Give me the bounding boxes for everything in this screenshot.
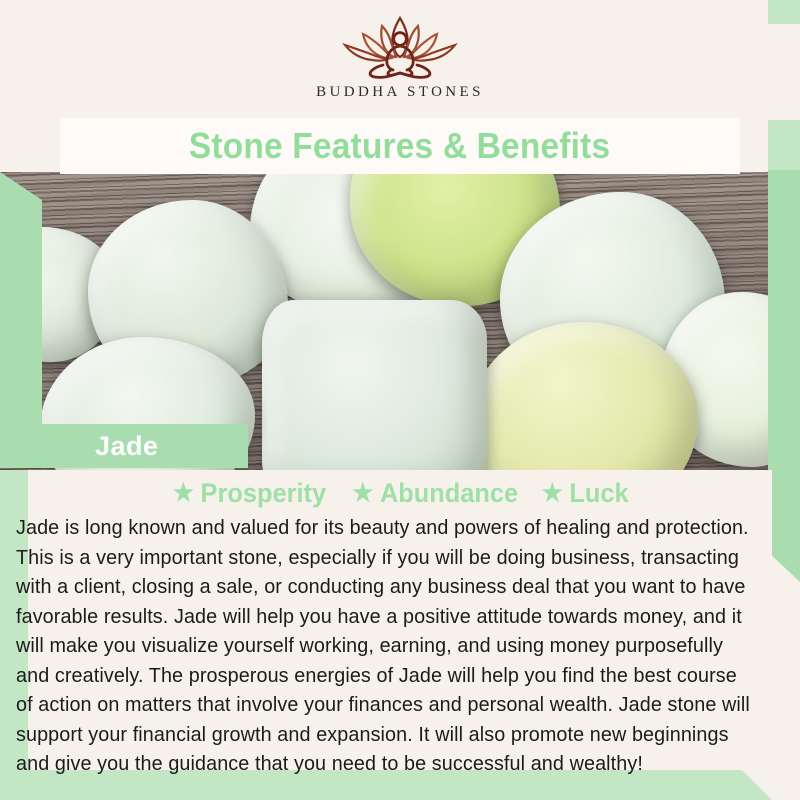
stone-shape (262, 300, 487, 470)
star-icon: ★ (542, 481, 563, 506)
frame-left-photo-band (0, 172, 42, 434)
title-banner: Stone Features & Benefits (60, 118, 740, 174)
brand-name: BUDDHA STONES (316, 84, 484, 101)
description-text: Jade is long known and valued for its be… (16, 513, 757, 779)
star-icon: ★ (352, 481, 373, 506)
content-panel: ★ Prosperity ★ Abundance ★ Luck Jade is … (28, 470, 772, 770)
lotus-meditation-icon (325, 12, 475, 80)
frame-right-mid-band (768, 170, 800, 582)
benefit-label: Luck (570, 478, 629, 509)
benefit-label: Prosperity (201, 478, 327, 509)
brand-logo: BUDDHA STONES (316, 12, 484, 101)
stone-name-label: Jade (95, 431, 159, 462)
benefit-item-luck: ★ Luck (542, 478, 629, 509)
benefit-item-prosperity: ★ Prosperity (173, 478, 326, 509)
brand-header: BUDDHA STONES (0, 0, 800, 120)
star-icon: ★ (173, 481, 194, 506)
benefit-item-abundance: ★ Abundance (352, 478, 518, 509)
stone-name-banner: Jade (0, 424, 248, 468)
poster-root: BUDDHA STONES Stone Features & Benefits … (0, 0, 800, 800)
page-title: Stone Features & Benefits (189, 125, 610, 167)
benefit-label: Abundance (380, 478, 518, 509)
benefits-row: ★ Prosperity ★ Abundance ★ Luck (28, 470, 772, 509)
